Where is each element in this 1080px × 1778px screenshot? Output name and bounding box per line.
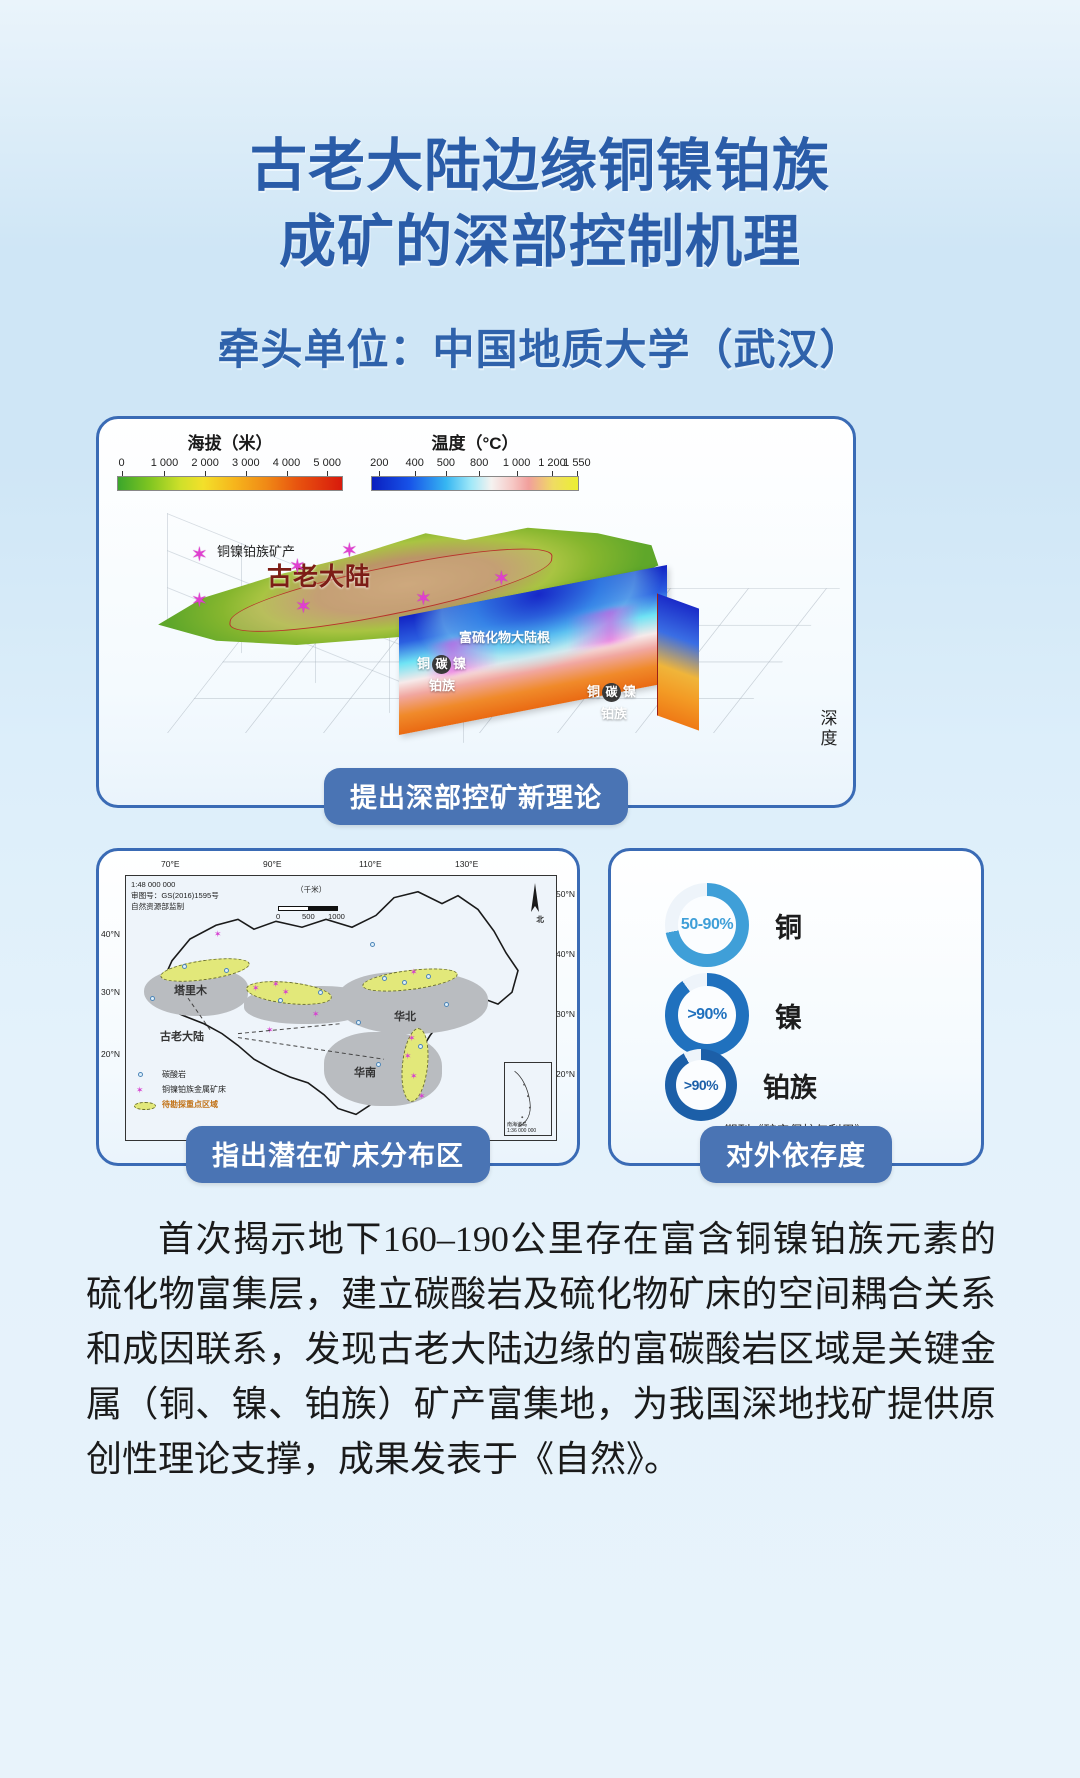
- temp-tick-6: 1 550: [563, 457, 591, 469]
- map-lon-top-3: 130°E: [455, 859, 478, 869]
- donut-card-inner: 50-90% 铜 >90% 镍 >90% 铂: [611, 851, 981, 1163]
- block-label-left-1: 铜碳镍: [417, 653, 466, 674]
- root-label: 富硫化物大陆根: [459, 627, 550, 646]
- donut-value-copper: 50-90%: [681, 916, 733, 934]
- axis-label-longitude: 经度: [687, 799, 729, 805]
- map-lat-left-1: 30°N: [101, 987, 120, 997]
- donut-row-nickel: >90% 镍: [665, 973, 802, 1057]
- donut-row-copper: 50-90% 铜: [665, 883, 802, 967]
- model-card-inner: 海拔（米） 0 1 000 2 000 3 000 4 000 5 000 温度…: [99, 419, 853, 805]
- carbon-dot-icon: 碳: [432, 655, 451, 674]
- map-lat-right-1: 40°N: [556, 949, 575, 959]
- mineral-star-icon: ✶: [191, 591, 208, 611]
- block-label-right-2: 铂族: [601, 703, 627, 722]
- temp-tick-0: 200: [370, 457, 388, 469]
- map-lat-right-2: 30°N: [556, 1009, 575, 1019]
- donut-hole-copper: 50-90%: [678, 896, 736, 954]
- axis-label-depth: 深度: [819, 709, 839, 749]
- map-lon-top-0: 70°E: [161, 859, 180, 869]
- elevation-colorbar-ticks: 0 1 000 2 000 3 000 4 000 5 000: [117, 457, 343, 471]
- donut-chart-nickel: >90%: [665, 973, 749, 1057]
- donut-value-pgm: >90%: [684, 1077, 718, 1093]
- mineral-legend-label: 铜镍铂族矿产: [217, 541, 295, 560]
- donut-card: 50-90% 铜 >90% 镍 >90% 铂: [608, 848, 984, 1166]
- temperature-tickmarks: [371, 471, 579, 476]
- temp-tick-4: 1 000: [503, 457, 531, 469]
- page-subtitle: 牵头单位：中国地质大学（武汉）: [0, 316, 1080, 377]
- title-line-1: 古老大陆边缘铜镍铂族: [0, 128, 1080, 204]
- temp-tick-3: 800: [470, 457, 488, 469]
- donut-hole-nickel: >90%: [678, 986, 736, 1044]
- mineral-star-icon: ✶: [493, 569, 510, 589]
- map-card-inner: 70°E 90°E 110°E 130°E 40°N 30°N 20°N 50°…: [99, 851, 577, 1163]
- donut-chart-copper: 50-90%: [665, 883, 749, 967]
- legend-circle-icon: [138, 1072, 143, 1077]
- map-lat-left-2: 20°N: [101, 1049, 120, 1059]
- elev-tick-3: 3 000: [232, 457, 260, 469]
- temperature-gradient-bar: [371, 476, 579, 491]
- infographic-page: 古老大陆边缘铜镍铂族 成矿的深部控制机理 牵头单位：中国地质大学（武汉） 海拔（…: [0, 0, 1080, 1778]
- craton-label: 古老大陆: [267, 557, 371, 593]
- map-card: 70°E 90°E 110°E 130°E 40°N 30°N 20°N 50°…: [96, 848, 580, 1166]
- elevation-gradient-bar: [117, 476, 343, 491]
- map-frame: 1:48 000 000 审图号：GS(2016)1595号 自然资源部监制 （…: [125, 875, 557, 1141]
- donut-label-copper: 铜: [775, 906, 802, 945]
- legend-label-deposit: 铜镍铂族金属矿床: [162, 1084, 226, 1095]
- map-lat-left-0: 40°N: [101, 929, 120, 939]
- legend-label-carbonatite: 碳酸岩: [162, 1069, 186, 1080]
- donut-card-caption: 对外依存度: [700, 1126, 892, 1183]
- donut-hole-pgm: >90%: [676, 1060, 726, 1110]
- axis-label-latitude: 纬度: [219, 799, 261, 805]
- elev-tick-2: 2 000: [191, 457, 219, 469]
- temperature-colorbar-title: 温度（°C）: [371, 429, 579, 454]
- body-paragraph: 首次揭示地下160–190公里存在富含铜镍铂族元素的硫化物富集层，建立碳酸岩及硫…: [86, 1212, 996, 1487]
- map-lon-top-1: 90°E: [263, 859, 282, 869]
- legend-label-zone: 待勘探重点区域: [162, 1099, 218, 1110]
- elev-tick-0: 0: [118, 457, 124, 469]
- mineral-star-icon: ✶: [341, 541, 358, 561]
- model-card-caption: 提出深部控矿新理论: [324, 768, 628, 825]
- elevation-colorbar: 海拔（米） 0 1 000 2 000 3 000 4 000 5 000: [117, 429, 343, 491]
- page-title: 古老大陆边缘铜镍铂族 成矿的深部控制机理: [0, 0, 1080, 280]
- temp-tick-5: 1 200: [538, 457, 566, 469]
- mineral-star-icon: ✶: [415, 589, 432, 609]
- elevation-tickmarks: [117, 471, 343, 476]
- elev-tick-1: 1 000: [151, 457, 179, 469]
- block-label-right-1: 铜碳镍: [587, 681, 636, 702]
- donut-label-nickel: 镍: [775, 996, 802, 1035]
- map-lat-right-3: 20°N: [556, 1069, 575, 1079]
- donut-value-nickel: >90%: [687, 1006, 726, 1024]
- elev-tick-5: 5 000: [313, 457, 341, 469]
- elevation-colorbar-title: 海拔（米）: [117, 429, 343, 454]
- elev-tick-4: 4 000: [273, 457, 301, 469]
- mineral-star-icon: ✶: [191, 545, 208, 565]
- donut-chart-pgm: >90%: [665, 1049, 737, 1121]
- block-label-left-2: 铂族: [429, 675, 455, 694]
- donut-label-pgm: 铂族: [763, 1066, 817, 1105]
- mantle-block-side: [657, 593, 699, 730]
- legend-oval-icon: [134, 1102, 156, 1110]
- three-d-scene: 古老大陆 ✶ ✶ ✶ ✶ ✶ ✶ ✶ 铜镍铂族矿产 富硫化物大陆根 铜碳镍 铂族…: [99, 505, 853, 745]
- model-card: 海拔（米） 0 1 000 2 000 3 000 4 000 5 000 温度…: [96, 416, 856, 808]
- title-line-2: 成矿的深部控制机理: [0, 204, 1080, 280]
- donut-row-pgm: >90% 铂族: [665, 1049, 817, 1121]
- temp-tick-1: 400: [405, 457, 423, 469]
- mineral-star-icon: ✶: [289, 557, 306, 577]
- legend-star-icon: ✶: [136, 1086, 144, 1095]
- map-card-caption: 指出潜在矿床分布区: [186, 1126, 490, 1183]
- temp-tick-2: 500: [437, 457, 455, 469]
- carbon-dot-icon: 碳: [602, 683, 621, 702]
- temperature-colorbar-ticks: 200 400 500 800 1 000 1 200 1 550: [371, 457, 579, 471]
- map-lat-right-0: 50°N: [556, 889, 575, 899]
- map-lon-top-2: 110°E: [359, 859, 382, 869]
- map-inset-label: 南海诸岛 1:36 000 000: [507, 1122, 536, 1134]
- temperature-colorbar: 温度（°C） 200 400 500 800 1 000 1 200 1 550: [371, 429, 579, 491]
- mineral-star-icon: ✶: [295, 597, 312, 617]
- map-inset: 南海诸岛 1:36 000 000: [504, 1062, 552, 1136]
